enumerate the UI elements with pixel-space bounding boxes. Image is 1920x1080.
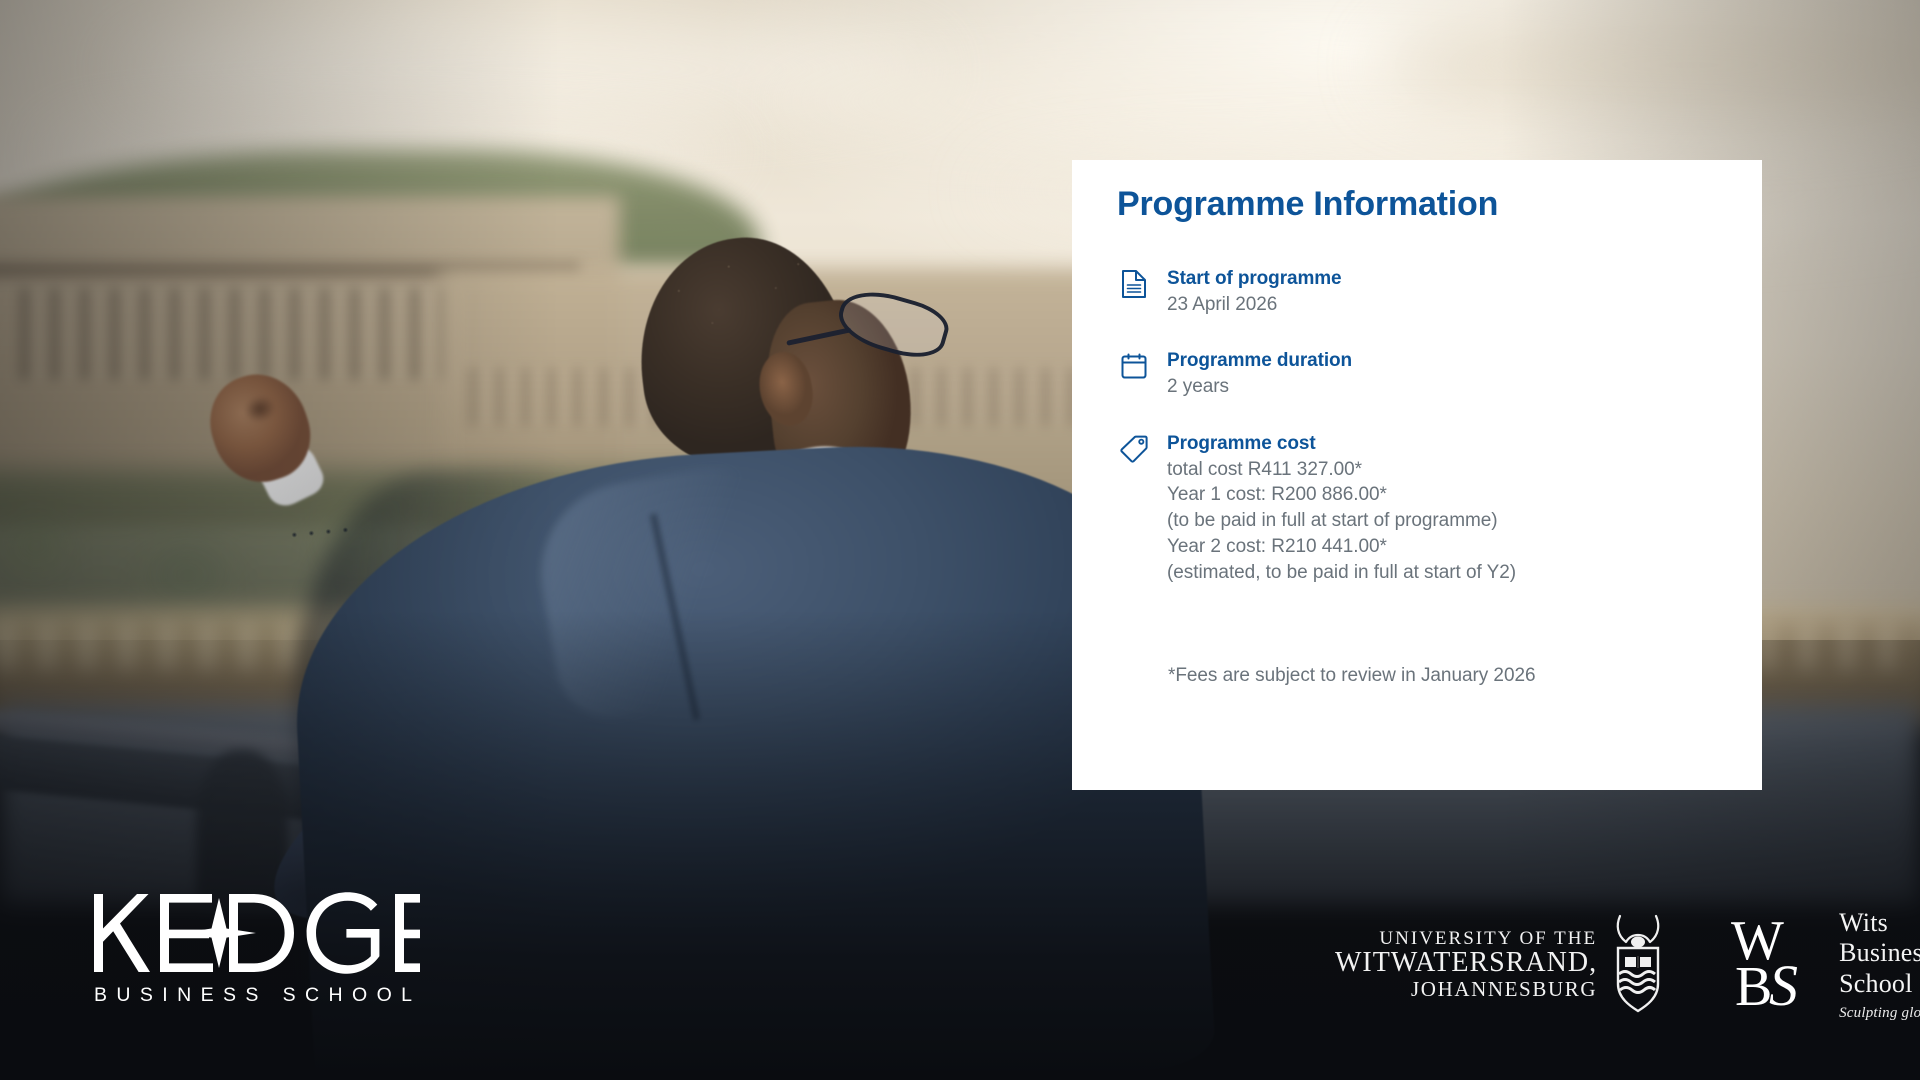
info-item-body: Programme cost total cost R411 327.00* Y…: [1167, 430, 1516, 586]
page-title: Programme Information: [1117, 185, 1498, 224]
document-icon: [1117, 267, 1151, 301]
programme-information-card: Programme Information Start of programme…: [1072, 160, 1762, 790]
wits-university-logo: UNIVERSITY OF THE WITWATERSRAND, JOHANNE…: [1335, 913, 1669, 1017]
wits-wordmark: UNIVERSITY OF THE WITWATERSRAND, JOHANNE…: [1335, 929, 1597, 1001]
info-item-label: Programme cost: [1167, 431, 1516, 457]
price-tag-icon: [1117, 432, 1151, 466]
wbs-wordmark: Wits Business School Sculpting global le…: [1839, 908, 1920, 1021]
kedge-wordmark: [90, 890, 420, 976]
info-item-line: total cost R411 327.00*: [1167, 457, 1516, 483]
fees-footnote: *Fees are subject to review in January 2…: [1168, 665, 1536, 687]
info-item-body: Programme duration 2 years: [1167, 347, 1352, 399]
calendar-icon: [1117, 349, 1151, 383]
wits-line-2: WITWATERSRAND,: [1335, 949, 1597, 978]
wits-line-3: JOHANNESBURG: [1335, 978, 1597, 1002]
info-item-line: 2 years: [1167, 374, 1352, 400]
wbs-tagline: Sculpting global leaders: [1839, 1005, 1920, 1022]
info-item-line: (estimated, to be paid in full at start …: [1167, 560, 1516, 586]
info-item-programme-duration: Programme duration 2 years: [1117, 347, 1717, 399]
info-item-programme-cost: Programme cost total cost R411 327.00* Y…: [1117, 430, 1717, 586]
info-item-line: 23 April 2026: [1167, 292, 1342, 318]
info-item-line: (to be paid in full at start of programm…: [1167, 508, 1516, 534]
info-item-label: Programme duration: [1167, 348, 1352, 374]
partner-logos: UNIVERSITY OF THE WITWATERSRAND, JOHANNE…: [1335, 900, 1855, 1030]
kedge-logo: BUSINESS SCHOOL: [90, 890, 510, 1030]
programme-info-list: Start of programme 23 April 2026 Program…: [1117, 265, 1717, 616]
info-item-label: Start of programme: [1167, 266, 1342, 292]
info-item-start-of-programme: Start of programme 23 April 2026: [1117, 265, 1717, 317]
wbs-monogram-icon: W B S: [1729, 913, 1825, 1017]
wbs-line-1: Wits: [1839, 908, 1920, 938]
kedge-tagline: BUSINESS SCHOOL: [94, 984, 510, 1007]
wbs-line-3: School: [1839, 969, 1920, 999]
info-item-line: Year 1 cost: R200 886.00*: [1167, 482, 1516, 508]
svg-text:B: B: [1735, 956, 1772, 1017]
svg-text:S: S: [1769, 953, 1798, 1017]
wits-crest-icon: [1607, 913, 1669, 1017]
slide-root: Programme Information Start of programme…: [0, 0, 1920, 1080]
info-item-body: Start of programme 23 April 2026: [1167, 265, 1342, 317]
wits-business-school-logo: W B S Wits Business School Sculpting glo…: [1729, 908, 1920, 1021]
wbs-line-2: Business: [1839, 938, 1920, 968]
info-item-line: Year 2 cost: R210 441.00*: [1167, 534, 1516, 560]
wits-line-1: UNIVERSITY OF THE: [1335, 929, 1597, 949]
